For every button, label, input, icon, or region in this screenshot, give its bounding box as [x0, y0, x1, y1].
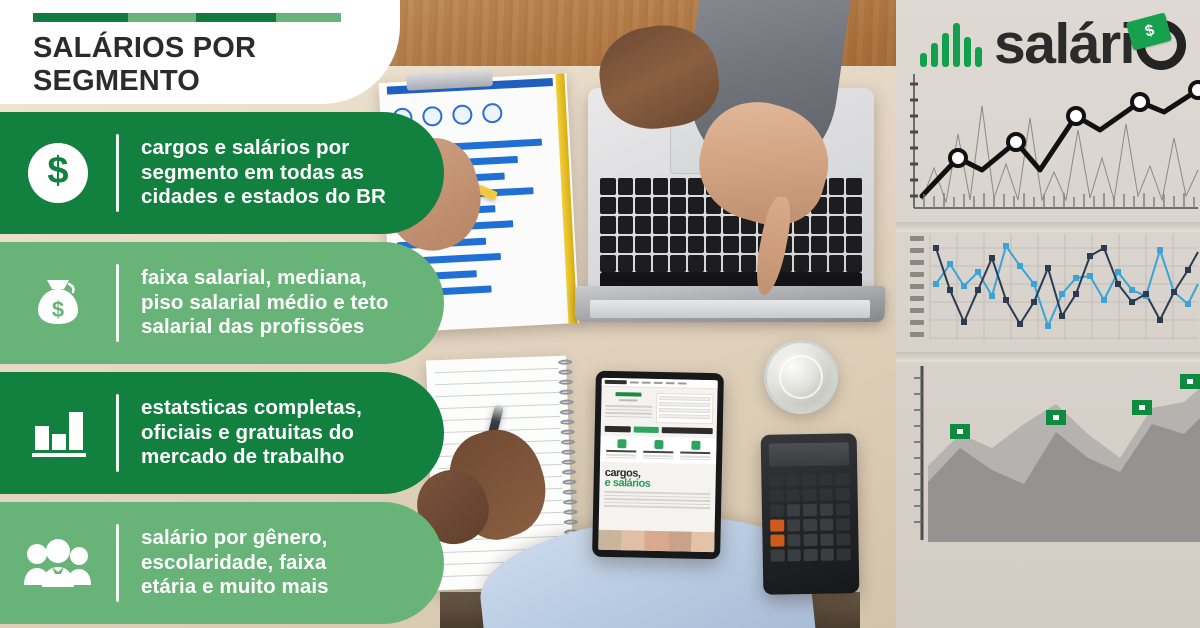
feature-item-cargos-salarios[interactable]: $ cargos e salários por segmento em toda… — [0, 112, 444, 234]
nav-link — [642, 382, 651, 384]
site-hero — [601, 387, 718, 428]
bar-chart-icon — [0, 404, 116, 462]
hero-button-primary — [633, 426, 659, 433]
feature-text: estatsticas completas, oficiais e gratui… — [141, 396, 386, 470]
laptop-screen-bezel — [590, 300, 870, 318]
rule-segment — [276, 13, 341, 22]
feature-item-estatisticas[interactable]: estatsticas completas, oficiais e gratui… — [0, 372, 444, 494]
mid-right-dual-series-chart — [900, 228, 1200, 356]
top-right-trend-chart — [900, 72, 1200, 222]
feature-card — [604, 439, 638, 460]
feature-line: salário por gênero, — [141, 526, 329, 551]
form-field — [659, 414, 710, 419]
calculator-display — [769, 442, 849, 466]
money-bag-icon: $ — [0, 272, 116, 334]
feature-line: cidades e estados do BR — [141, 185, 386, 210]
logo-word-text: salári — [994, 16, 1134, 73]
hero-subtitle — [620, 399, 638, 401]
feature-line: estatsticas completas, — [141, 396, 362, 421]
feature-line: mercado de trabalho — [141, 445, 362, 470]
feature-divider — [116, 134, 119, 212]
card-icon — [654, 440, 663, 449]
form-field — [659, 408, 710, 413]
logo-wordmark: salári $ — [994, 16, 1186, 73]
page-title: SALÁRIOS POR SEGMENTO — [33, 32, 400, 98]
nav-link — [666, 382, 675, 384]
site-logo — [605, 380, 627, 384]
feature-item-faixa-salarial[interactable]: $ faixa salarial, mediana, piso salarial… — [0, 242, 444, 364]
hero-copy — [605, 392, 652, 423]
feature-card — [641, 440, 675, 461]
feature-line: salarial das profissões — [141, 315, 389, 340]
bottom-right-area-chart — [900, 362, 1200, 542]
feature-text: faixa salarial, mediana, piso salarial m… — [141, 266, 413, 340]
card-icon — [691, 441, 700, 450]
feature-list: $ cargos e salários por segmento em toda… — [0, 112, 444, 628]
feature-line: escolaridade, faixa — [141, 551, 329, 576]
rule-segment — [33, 13, 128, 22]
calculator — [761, 433, 860, 595]
title-panel: SALÁRIOS POR SEGMENTO — [0, 0, 400, 104]
feature-cards — [600, 436, 717, 464]
feature-card — [678, 440, 712, 461]
equalizer-bars-icon — [920, 23, 982, 67]
salario-logo[interactable]: salári $ — [920, 16, 1186, 73]
glass-of-water — [764, 340, 838, 414]
tablet-headline: cargos, e salários — [599, 462, 716, 494]
feature-line: etária e muito mais — [141, 575, 329, 600]
hero-button-secondary — [605, 426, 631, 433]
feature-divider — [116, 524, 119, 602]
logo-dollar-o-icon: $ — [1136, 20, 1186, 70]
svg-text:$: $ — [52, 297, 64, 322]
calculator-keypad — [769, 473, 851, 561]
feature-line: cargos e salários por — [141, 136, 386, 161]
nav-link — [678, 382, 687, 384]
nav-link — [654, 382, 663, 384]
dollar-circle-icon: $ — [0, 143, 116, 203]
tablet-image-strip — [598, 530, 714, 552]
hero-search-bar — [662, 427, 713, 434]
form-field — [659, 396, 710, 401]
feature-divider — [116, 264, 119, 342]
tablet-device: cargos, e salários — [592, 371, 724, 560]
nav-link — [630, 381, 639, 383]
rule-segment — [196, 13, 276, 22]
feature-text: cargos e salários por segmento em todas … — [141, 136, 410, 210]
tablet-screen: cargos, e salários — [598, 378, 718, 552]
tablet-headline-line2: e salários — [605, 478, 711, 490]
hero-form — [656, 393, 714, 424]
feature-divider — [116, 394, 119, 472]
clipboard-circle-icon — [482, 103, 503, 124]
feature-text: salário por gênero, escolaridade, faixa … — [141, 526, 353, 600]
poster-canvas: cargos, e salários — [0, 0, 1200, 628]
feature-line: faixa salarial, mediana, — [141, 266, 389, 291]
people-group-icon — [0, 537, 116, 589]
clipboard-circle-icon — [452, 104, 473, 125]
title-accent-rule — [33, 13, 341, 22]
feature-line: segmento em todas as — [141, 161, 386, 186]
hero-title — [616, 392, 642, 397]
feature-line: piso salarial médio e teto — [141, 291, 389, 316]
card-icon — [617, 439, 626, 448]
tablet-body-text — [599, 491, 715, 509]
rule-segment — [128, 13, 196, 22]
form-field — [659, 402, 710, 407]
feature-item-salario-genero[interactable]: salário por gênero, escolaridade, faixa … — [0, 502, 444, 624]
feature-line: oficiais e gratuitas do — [141, 421, 362, 446]
